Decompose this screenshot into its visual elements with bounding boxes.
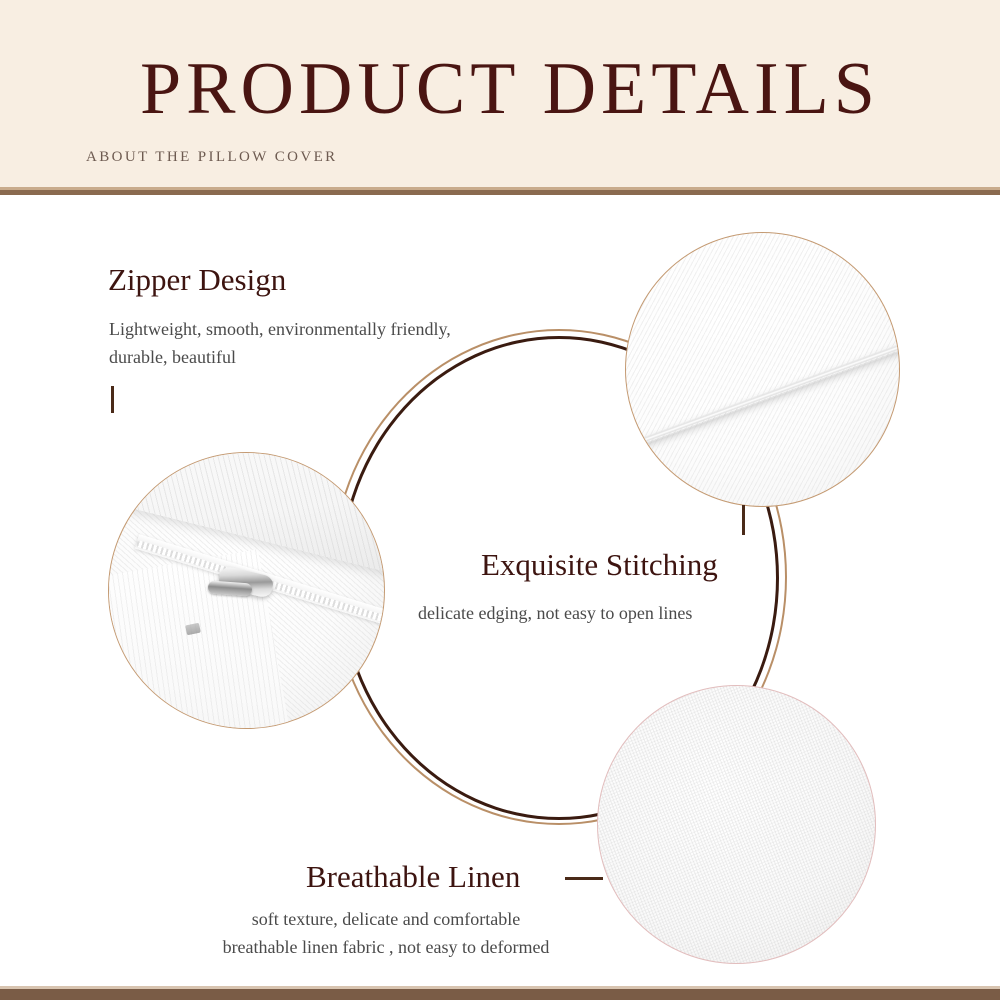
linen-body-line-2: breathable linen fabric , not easy to de…	[186, 934, 586, 962]
stitching-tick-mark	[742, 505, 745, 535]
page-title: PRODUCT DETAILS	[80, 52, 940, 126]
zipper-stop-mark	[185, 622, 201, 635]
header-rule	[0, 190, 1000, 195]
linen-connector-dash	[565, 877, 603, 880]
stitching-feature-title: Exquisite Stitching	[481, 547, 718, 583]
linen-body-line-1: soft texture, delicate and comfortable	[186, 906, 586, 934]
linen-fabric-photo	[597, 685, 876, 964]
page-subtitle: ABOUT THE PILLOW COVER	[86, 149, 338, 166]
zipper-feature-title: Zipper Design	[108, 262, 286, 298]
zipper-feature-body: Lightweight, smooth, environmentally fri…	[109, 316, 489, 372]
product-details-infographic: PRODUCT DETAILS ABOUT THE PILLOW COVER Z…	[0, 0, 1000, 1000]
linen-feature-title: Breathable Linen	[306, 859, 520, 895]
zipper-tick-mark	[111, 386, 114, 413]
stitching-closeup-photo	[625, 232, 900, 507]
stitching-feature-body: delicate edging, not easy to open lines	[418, 600, 838, 628]
zipper-closeup-photo	[108, 452, 385, 729]
footer-bar	[0, 989, 1000, 1000]
linen-feature-body: soft texture, delicate and comfortable b…	[186, 906, 586, 962]
